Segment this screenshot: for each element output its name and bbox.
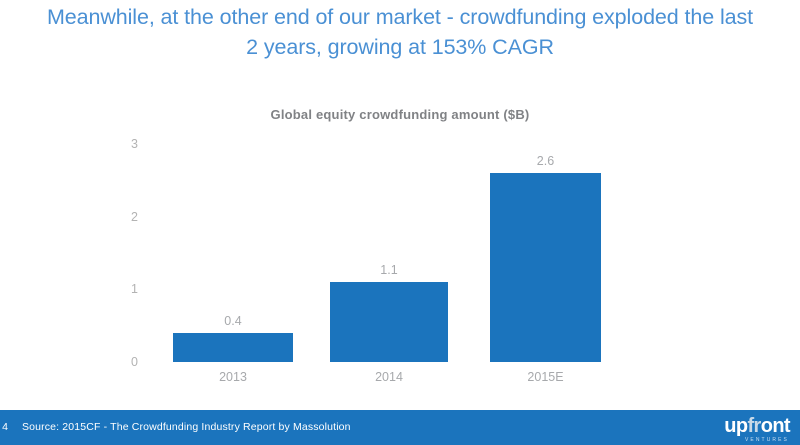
- x-axis-label-2014: 2014: [330, 371, 448, 383]
- logo-wordmark-part-2: fr: [747, 415, 760, 437]
- y-axis-tick-1: 1: [98, 283, 138, 295]
- logo-wordmark-part-1: up: [724, 415, 747, 437]
- x-axis-label-2013: 2013: [173, 371, 293, 383]
- bar-value-2015e: 2.6: [490, 155, 601, 167]
- footer-bar: 4 Source: 2015CF - The Crowdfunding Indu…: [0, 410, 800, 445]
- bar-2015e[interactable]: [490, 173, 601, 362]
- logo-wordmark-part-3: ont: [761, 415, 790, 437]
- upfront-ventures-logo: upfront VENTURES: [724, 416, 790, 444]
- bar-value-2013: 0.4: [173, 315, 293, 327]
- chart-plot-area: 0 1 2 3 0.4 2013 1.1 2014 2.6 2015E: [0, 0, 800, 410]
- x-axis-label-2015e: 2015E: [490, 371, 601, 383]
- logo-subtitle: VENTURES: [724, 437, 789, 444]
- y-axis-tick-3: 3: [98, 138, 138, 150]
- logo-wordmark: upfront: [724, 416, 790, 436]
- bar-2014[interactable]: [330, 282, 448, 362]
- bar-value-2014: 1.1: [330, 264, 448, 276]
- y-axis-tick-0: 0: [98, 356, 138, 368]
- source-citation: Source: 2015CF - The Crowdfunding Indust…: [22, 421, 351, 433]
- bar-2013[interactable]: [173, 333, 293, 362]
- bar-chart: Global equity crowdfunding amount ($B) 0…: [0, 0, 800, 410]
- page-number: 4: [0, 421, 12, 433]
- y-axis-tick-2: 2: [98, 211, 138, 223]
